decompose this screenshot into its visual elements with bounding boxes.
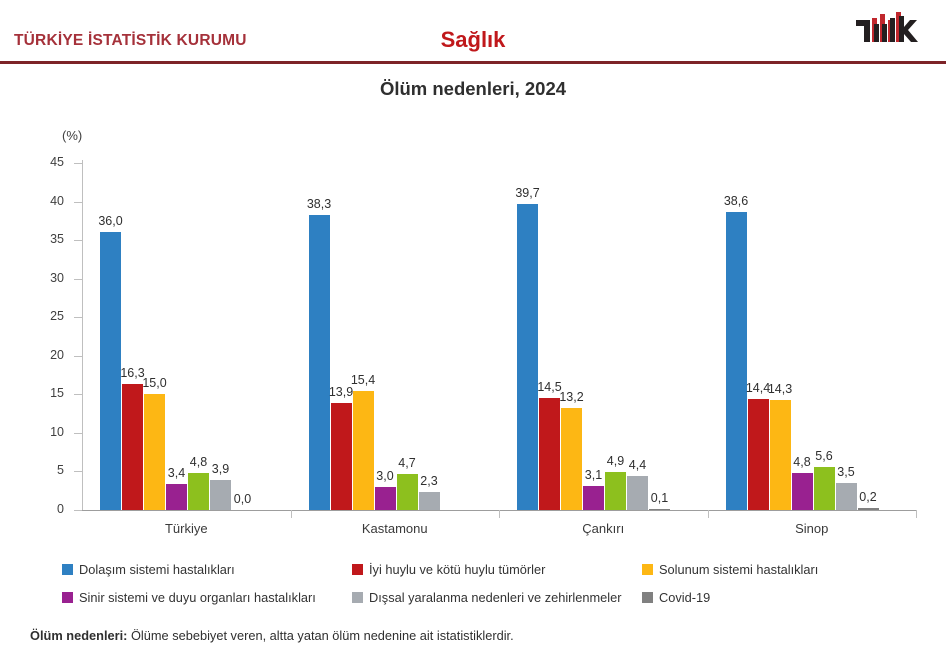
- y-axis-tick: [74, 356, 82, 357]
- x-axis-category-label: Kastamonu: [291, 521, 500, 536]
- x-axis-tick: [708, 510, 709, 518]
- legend-label: Covid-19: [659, 590, 710, 605]
- y-axis-tick-label: 30: [50, 272, 64, 285]
- bar: [605, 472, 626, 510]
- legend-item[interactable]: Sinir sistemi ve duyu organları hastalık…: [62, 590, 316, 605]
- y-axis-tick-label: 0: [57, 503, 64, 516]
- bar-value-label: 36,0: [91, 214, 130, 228]
- bar: [375, 487, 396, 510]
- bar: [331, 403, 352, 510]
- bar: [539, 398, 560, 510]
- bar-value-label: 14,3: [761, 382, 800, 396]
- y-axis-tick-label: 10: [50, 426, 64, 439]
- x-axis-tick: [291, 510, 292, 518]
- legend-swatch-icon: [352, 564, 363, 575]
- bar: [649, 509, 670, 510]
- legend-label: Dışsal yaralanma nedenleri ve zehirlenme…: [369, 590, 622, 605]
- legend-item[interactable]: Dışsal yaralanma nedenleri ve zehirlenme…: [352, 590, 622, 605]
- chart-legend: Dolaşım sistemi hastalıklarıİyi huylu ve…: [62, 562, 942, 614]
- y-axis-line: [82, 160, 83, 511]
- legend-label: Sinir sistemi ve duyu organları hastalık…: [79, 590, 316, 605]
- bar: [583, 486, 604, 510]
- legend-label: İyi huylu ve kötü huylu tümörler: [369, 562, 545, 577]
- bar-value-label: 0,1: [640, 491, 679, 505]
- y-axis-tick: [74, 317, 82, 318]
- legend-swatch-icon: [62, 592, 73, 603]
- x-axis-category-label: Türkiye: [82, 521, 291, 536]
- y-axis-tick-label: 40: [50, 195, 64, 208]
- bar-value-label: 2,3: [410, 474, 449, 488]
- bar: [188, 473, 209, 510]
- y-axis-tick: [74, 510, 82, 511]
- y-axis-tick: [74, 433, 82, 434]
- bar-value-label: 15,4: [344, 373, 383, 387]
- x-axis-category-label: Sinop: [708, 521, 917, 536]
- bar-value-label: 13,2: [552, 390, 591, 404]
- legend-swatch-icon: [62, 564, 73, 575]
- x-axis-tick: [499, 510, 500, 518]
- y-axis-tick: [74, 202, 82, 203]
- y-axis-tick-label: 45: [50, 156, 64, 169]
- legend-label: Solunum sistemi hastalıkları: [659, 562, 818, 577]
- bar-value-label: 38,3: [300, 197, 339, 211]
- y-axis-tick-label: 35: [50, 233, 64, 246]
- bar-value-label: 4,7: [388, 456, 427, 470]
- x-axis-category-label: Çankırı: [499, 521, 708, 536]
- y-axis-tick-label: 20: [50, 349, 64, 362]
- bar: [792, 473, 813, 510]
- bar-value-label: 0,2: [849, 490, 888, 504]
- bar: [122, 384, 143, 510]
- bar-value-label: 39,7: [508, 186, 547, 200]
- bar: [144, 394, 165, 510]
- bar: [419, 492, 440, 510]
- bar-value-label: 5,6: [805, 449, 844, 463]
- legend-label: Dolaşım sistemi hastalıkları: [79, 562, 235, 577]
- y-axis-tick: [74, 240, 82, 241]
- footnote-term: Ölüm nedenleri:: [30, 628, 127, 643]
- bar-value-label: 3,5: [827, 465, 866, 479]
- y-axis-tick-label: 25: [50, 310, 64, 323]
- y-axis-tick: [74, 279, 82, 280]
- y-axis-tick: [74, 471, 82, 472]
- y-axis-tick-label: 15: [50, 387, 64, 400]
- footnote: Ölüm nedenleri: Ölüme sebebiyet veren, a…: [30, 628, 514, 643]
- bar-value-label: 15,0: [135, 376, 174, 390]
- legend-item[interactable]: Solunum sistemi hastalıkları: [642, 562, 818, 577]
- bar: [726, 212, 747, 510]
- legend-item[interactable]: Dolaşım sistemi hastalıkları: [62, 562, 235, 577]
- y-axis-tick-label: 5: [57, 464, 64, 477]
- bar: [561, 408, 582, 510]
- bar-value-label: 0,0: [223, 492, 262, 506]
- bar: [166, 484, 187, 510]
- legend-item[interactable]: Covid-19: [642, 590, 710, 605]
- y-axis-unit-label: (%): [62, 128, 82, 143]
- bar: [517, 204, 538, 510]
- bar-value-label: 38,6: [717, 194, 756, 208]
- legend-swatch-icon: [352, 592, 363, 603]
- legend-item[interactable]: İyi huylu ve kötü huylu tümörler: [352, 562, 545, 577]
- chart-plot-area: (%) 051015202530354045 TürkiyeKastamonuÇ…: [0, 0, 946, 655]
- bar: [309, 215, 330, 510]
- x-axis-tick: [916, 510, 917, 518]
- bar-value-label: 3,9: [201, 462, 240, 476]
- y-axis-tick: [74, 163, 82, 164]
- bar-value-label: 4,4: [618, 458, 657, 472]
- bar: [353, 391, 374, 510]
- legend-swatch-icon: [642, 564, 653, 575]
- bar: [858, 508, 879, 510]
- legend-swatch-icon: [642, 592, 653, 603]
- bar: [748, 399, 769, 510]
- y-axis-tick: [74, 394, 82, 395]
- footnote-text: Ölüme sebebiyet veren, altta yatan ölüm …: [127, 628, 513, 643]
